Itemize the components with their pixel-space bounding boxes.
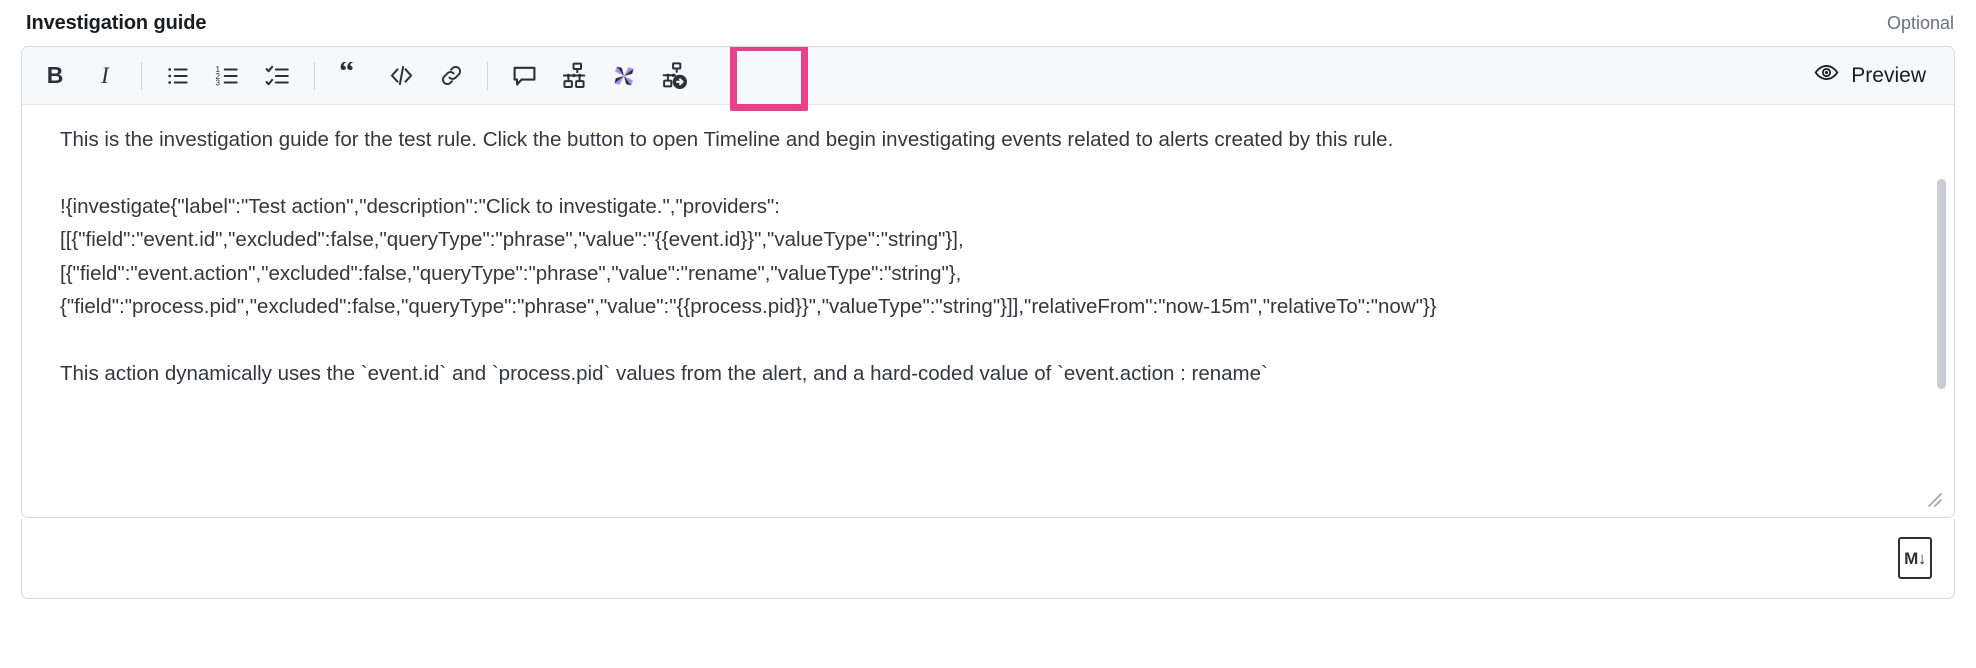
comment-button[interactable]: [499, 51, 549, 101]
toolbar-divider-1: [141, 62, 142, 90]
eye-icon: [1814, 60, 1839, 91]
field-header: Investigation guide Optional: [0, 0, 1976, 46]
timeline-button[interactable]: [549, 51, 599, 101]
italic-button[interactable]: I: [80, 51, 130, 101]
toolbar-divider-3: [487, 62, 488, 90]
markdown-badge[interactable]: M↓: [1898, 537, 1932, 579]
osquery-button[interactable]: [599, 51, 649, 101]
markdown-toolbar: B I: [22, 47, 1954, 105]
code-button[interactable]: [376, 51, 426, 101]
comment-icon: [511, 62, 538, 89]
markdown-textarea[interactable]: This is the investigation guide for the …: [22, 105, 1954, 517]
page-title: Investigation guide: [26, 12, 206, 35]
italic-icon: I: [101, 64, 109, 87]
svg-text:3: 3: [216, 78, 221, 87]
timeline-icon: [560, 62, 588, 90]
checklist-icon: [265, 63, 291, 89]
preview-button[interactable]: Preview: [1812, 56, 1928, 95]
bulleted-list-button[interactable]: [153, 51, 203, 101]
bold-button[interactable]: B: [30, 51, 80, 101]
checklist-button[interactable]: [253, 51, 303, 101]
numbered-list-button[interactable]: 1 2 3: [203, 51, 253, 101]
guide-paragraph-explanation: This action dynamically uses the `event.…: [60, 357, 1890, 391]
link-icon: [439, 63, 464, 88]
guide-paragraph-intro: This is the investigation guide for the …: [60, 123, 1890, 157]
toolbar-divider-2: [314, 62, 315, 90]
editor-footer: M↓: [21, 519, 1955, 599]
preview-label: Preview: [1851, 64, 1926, 88]
guide-paragraph-investigate-json: !{investigate{"label":"Test action","des…: [60, 190, 1890, 324]
markdown-badge-label: M↓: [1904, 550, 1926, 567]
link-button[interactable]: [426, 51, 476, 101]
insert-investigation-action-button[interactable]: [649, 51, 699, 101]
svg-text:“: “: [339, 62, 354, 88]
toolbar-right-group: Preview: [1812, 56, 1954, 95]
bold-icon: B: [47, 64, 64, 87]
code-icon: [388, 62, 415, 89]
highlight-annotation-box: [730, 46, 808, 111]
optional-badge: Optional: [1887, 13, 1954, 34]
blockquote-icon: “: [338, 62, 365, 89]
investigation-guide-panel: Investigation guide Optional B I: [0, 0, 1976, 668]
editor-scrollbar-thumb[interactable]: [1937, 179, 1946, 389]
osquery-icon: [609, 61, 639, 91]
numbered-list-icon: 1 2 3: [215, 63, 241, 89]
markdown-editor: B I: [21, 46, 1955, 518]
insert-investigation-action-icon: [660, 62, 688, 90]
bulleted-list-icon: [165, 63, 191, 89]
blockquote-button[interactable]: “: [326, 51, 376, 101]
resize-handle-icon[interactable]: [1924, 489, 1946, 511]
